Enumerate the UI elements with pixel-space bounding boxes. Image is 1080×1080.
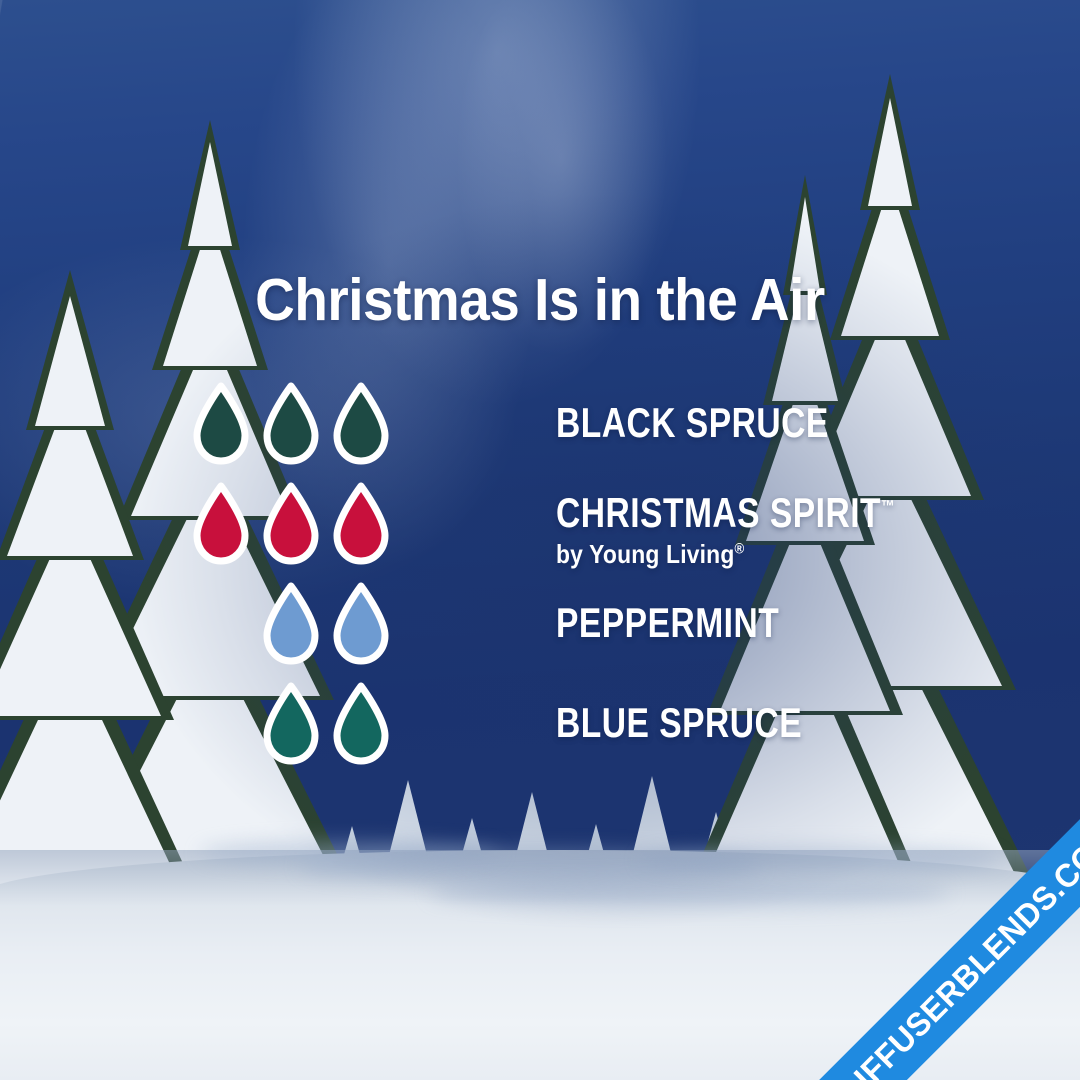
ingredient-subtitle: by Young Living® (556, 541, 929, 567)
diffuser-blend-graphic: Christmas Is in the Air BLACK SPRUCE (0, 0, 1080, 1080)
ingredient-name: CHRISTMAS SPIRIT™ (556, 492, 895, 534)
oil-drop-icon (260, 482, 322, 566)
ingredient-name: PEPPERMINT (556, 602, 779, 644)
ingredient-label-group: BLACK SPRUCE (556, 402, 897, 444)
registered-symbol: ® (734, 540, 744, 557)
oil-drop-icon (260, 382, 322, 466)
ingredient-label-group: CHRISTMAS SPIRIT™ by Young Living® (556, 492, 979, 567)
drop-count-group (190, 482, 392, 566)
oil-drop-icon (260, 682, 322, 766)
ingredient-label-group: PEPPERMINT (556, 602, 835, 644)
oil-drop-icon (260, 582, 322, 666)
oil-drop-icon (330, 482, 392, 566)
oil-drop-icon (330, 582, 392, 666)
ingredient-row: BLUE SPRUCE (0, 682, 1080, 782)
watermark-ribbon[interactable]: DIFFUSERBLENDS.COM (801, 788, 1080, 1080)
ingredient-subtitle-text: by Young Living (556, 539, 734, 569)
ingredient-label-group: BLUE SPRUCE (556, 702, 864, 744)
page-title: Christmas Is in the Air (38, 266, 1042, 334)
ingredient-row: PEPPERMINT (0, 582, 1080, 682)
oil-drop-icon (330, 682, 392, 766)
watermark-text: DIFFUSERBLENDS.COM (830, 817, 1080, 1080)
trademark-symbol: ™ (881, 497, 895, 516)
ingredient-name: BLACK SPRUCE (556, 402, 829, 444)
blend-recipe-list: BLACK SPRUCE CHRISTMAS SPIRIT™ by Young … (0, 382, 1080, 782)
oil-drop-icon (330, 382, 392, 466)
drop-count-group (260, 582, 392, 666)
oil-drop-icon (190, 382, 252, 466)
ingredient-row: BLACK SPRUCE (0, 382, 1080, 482)
ingredient-name: BLUE SPRUCE (556, 702, 802, 744)
ingredient-name-text: CHRISTMAS SPIRIT (556, 489, 881, 536)
oil-drop-icon (190, 482, 252, 566)
drop-count-group (190, 382, 392, 466)
ingredient-row: CHRISTMAS SPIRIT™ by Young Living® (0, 482, 1080, 582)
drop-count-group (260, 682, 392, 766)
